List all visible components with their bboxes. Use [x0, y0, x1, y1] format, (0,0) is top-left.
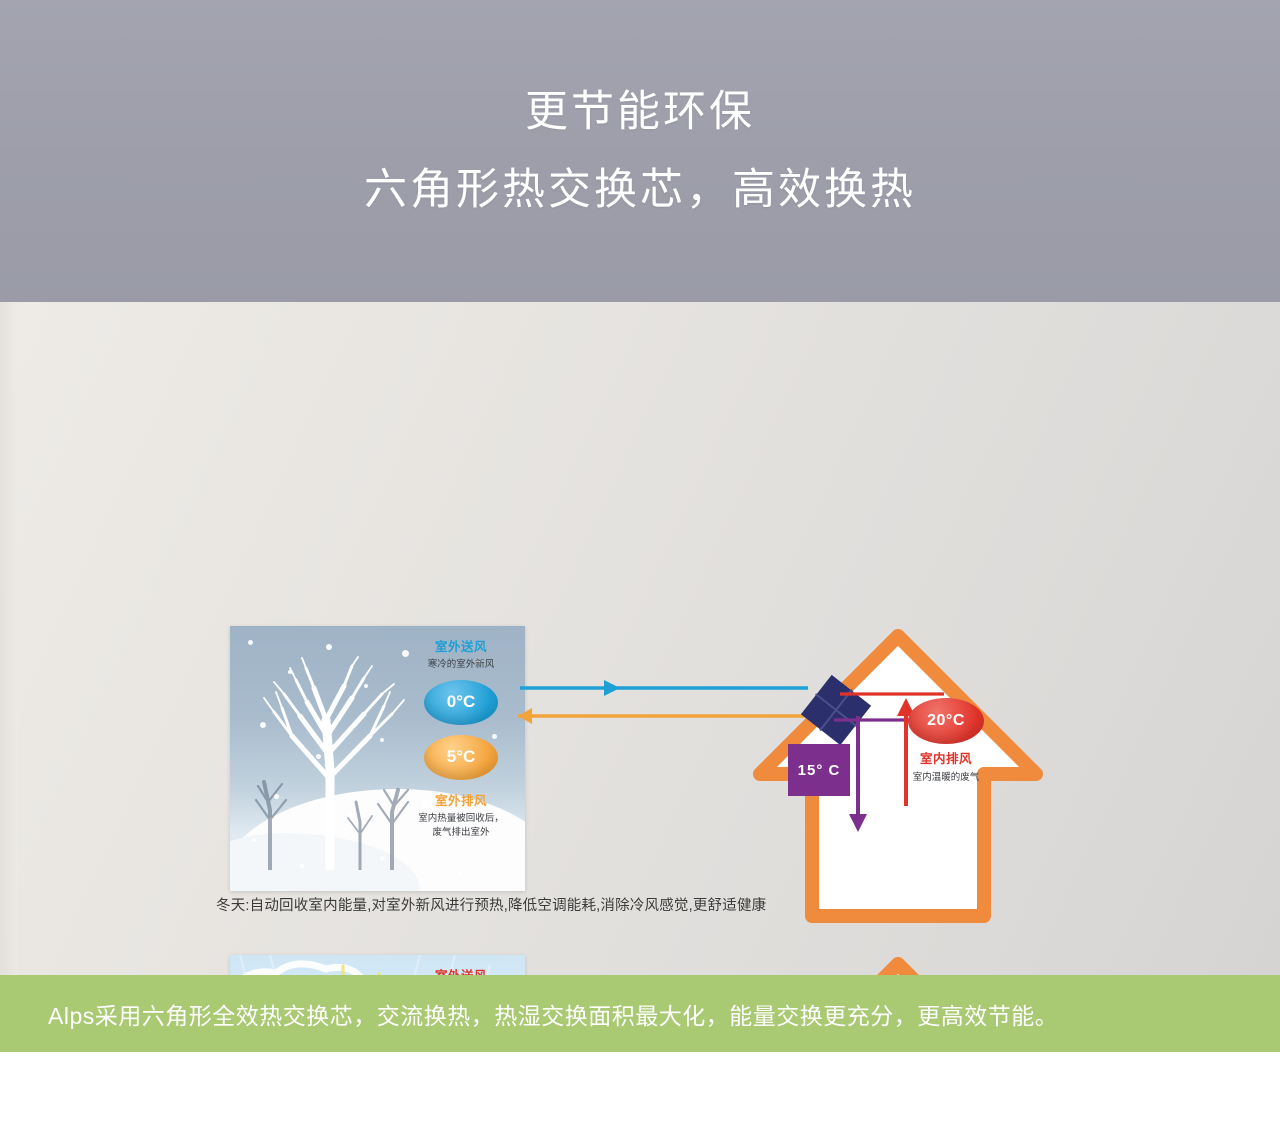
footer-text: Alps采用六角形全效热交换芯，交流换热，热湿交换面积最大化，能量交换更充分，更…: [0, 997, 1058, 1031]
bottom-whitespace: [0, 1052, 1280, 1128]
winter-scene-image: 室外送风 寒冷的室外新风 0°C 5°C 室外排风 室内热量被回收后， 废气排出…: [230, 626, 525, 891]
snowflake: [316, 754, 321, 759]
winter-indoor-exhaust-title: 室内排风: [886, 748, 1006, 767]
product-feature-page: 更节能环保 六角形热交换芯，高效换热: [0, 0, 1280, 1128]
header-title-line2: 六角形热交换芯，高效换热: [364, 158, 916, 223]
winter-supply-subtitle: 寒冷的室外新风: [407, 658, 515, 672]
snowflake: [348, 812, 352, 816]
snowflake: [380, 738, 384, 742]
winter-exhaust-sub-line2: 废气排出室外: [407, 826, 515, 840]
winter-outdoor-supply-temp-badge: 0°C: [424, 680, 498, 725]
winter-supply-title: 室外送风: [407, 636, 515, 655]
winter-indoor-exhaust-temp-badge: 20°C: [908, 698, 984, 744]
winter-room-temp-box: 15° C: [788, 744, 850, 796]
snowflake: [326, 644, 332, 650]
snowflake: [300, 864, 304, 868]
snow-tree-icon: [252, 650, 422, 870]
footer-green-band: Alps采用六角形全效热交换芯，交流换热，热湿交换面积最大化，能量交换更充分，更…: [0, 975, 1280, 1052]
header-text-block: 更节能环保 六角形热交换芯，高效换热: [0, 0, 1280, 302]
snowflake: [274, 794, 279, 799]
header-banner: 更节能环保 六角形热交换芯，高效换热: [0, 0, 1280, 302]
winter-caption: 冬天:自动回收室内能量,对室外新风进行预热,降低空调能耗,消除冷风感觉,更舒适健…: [216, 894, 766, 915]
snowflake: [364, 684, 368, 688]
winter-outdoor-exhaust-temp-badge: 5°C: [424, 735, 498, 780]
winter-indoor-exhaust-labels: 室内排风 室内温暖的废气: [886, 748, 1006, 785]
diagram-body: 室外送风 寒冷的室外新风 0°C 5°C 室外排风 室内热量被回收后， 废气排出…: [0, 302, 1280, 975]
winter-return-arrow-down: [844, 716, 884, 834]
snowflake: [248, 640, 253, 645]
winter-indoor-exhaust-sub: 室内温暖的废气: [886, 771, 1006, 785]
winter-outdoor-labels: 室外送风 寒冷的室外新风 0°C 5°C 室外排风 室内热量被回收后， 废气排出…: [407, 636, 515, 839]
winter-exhaust-title: 室外排风: [407, 790, 515, 809]
snowflake: [458, 872, 462, 876]
winter-exhaust-sub-line1: 室内热量被回收后，: [407, 812, 515, 826]
snowflake: [260, 722, 266, 728]
snowflake: [252, 838, 256, 842]
snowflake: [380, 856, 385, 861]
snowflake: [288, 670, 292, 674]
winter-house: 15° C 20°C 室内排风 室内温暖的废气: [748, 624, 1048, 924]
header-title-line1: 更节能环保: [525, 80, 755, 145]
